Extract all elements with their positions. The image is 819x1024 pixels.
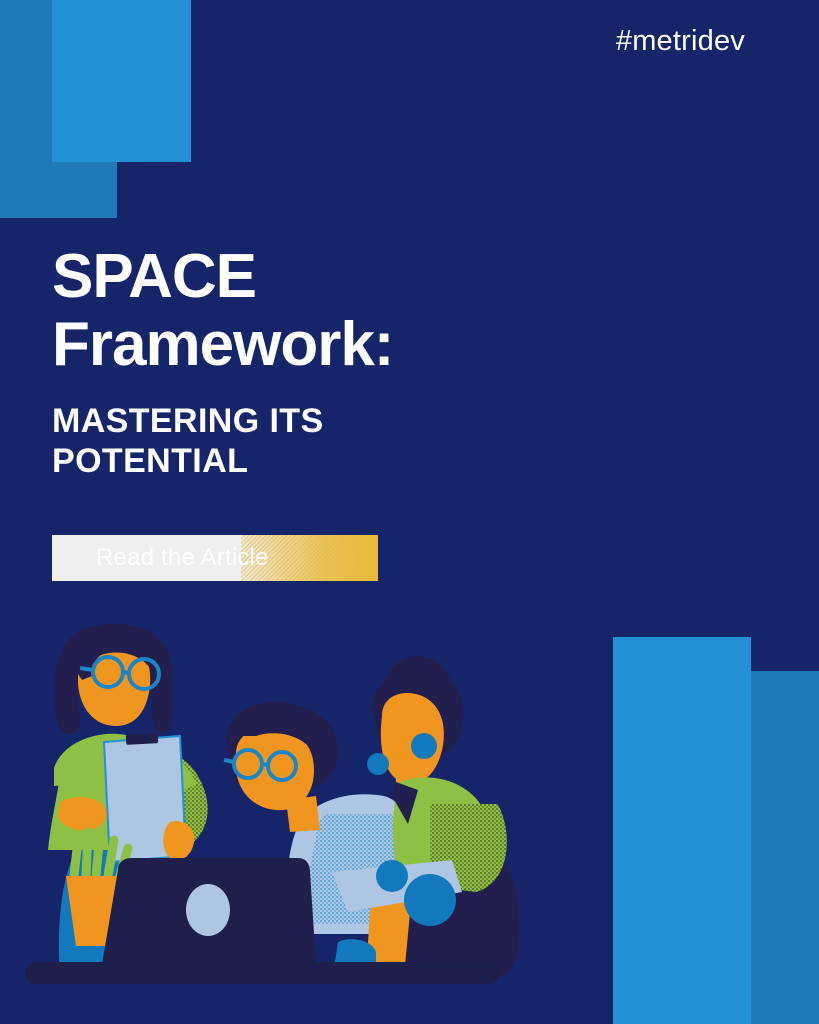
laptop-logo bbox=[186, 884, 230, 936]
tablet-dot-large bbox=[404, 874, 456, 926]
hand-right bbox=[163, 821, 194, 860]
read-article-button[interactable]: Read the Article bbox=[52, 535, 378, 581]
decor-block-bottom-right-bright bbox=[613, 637, 751, 1024]
page-title: SPACE Framework: bbox=[52, 243, 692, 379]
neck bbox=[286, 796, 320, 832]
page-subtitle: MASTERING ITS POTENTIAL bbox=[52, 401, 692, 481]
poster-canvas: #metridev SPACE Framework: MASTERING ITS… bbox=[0, 0, 819, 1024]
decor-block-bottom-right-dark bbox=[751, 671, 819, 1024]
read-article-label: Read the Article bbox=[52, 544, 269, 572]
team-collaboration-illustration bbox=[0, 624, 620, 1024]
brand-hashtag: #metridev bbox=[616, 25, 745, 58]
headline-block: SPACE Framework: MASTERING ITS POTENTIAL bbox=[52, 243, 692, 481]
decor-block-top-left-bright bbox=[52, 0, 191, 162]
desk-bar bbox=[25, 962, 500, 984]
earring-left bbox=[367, 753, 389, 775]
earring-right bbox=[411, 733, 437, 759]
tablet-dot-small bbox=[376, 860, 408, 892]
laptop bbox=[94, 858, 324, 976]
illustration-svg bbox=[0, 624, 620, 1024]
